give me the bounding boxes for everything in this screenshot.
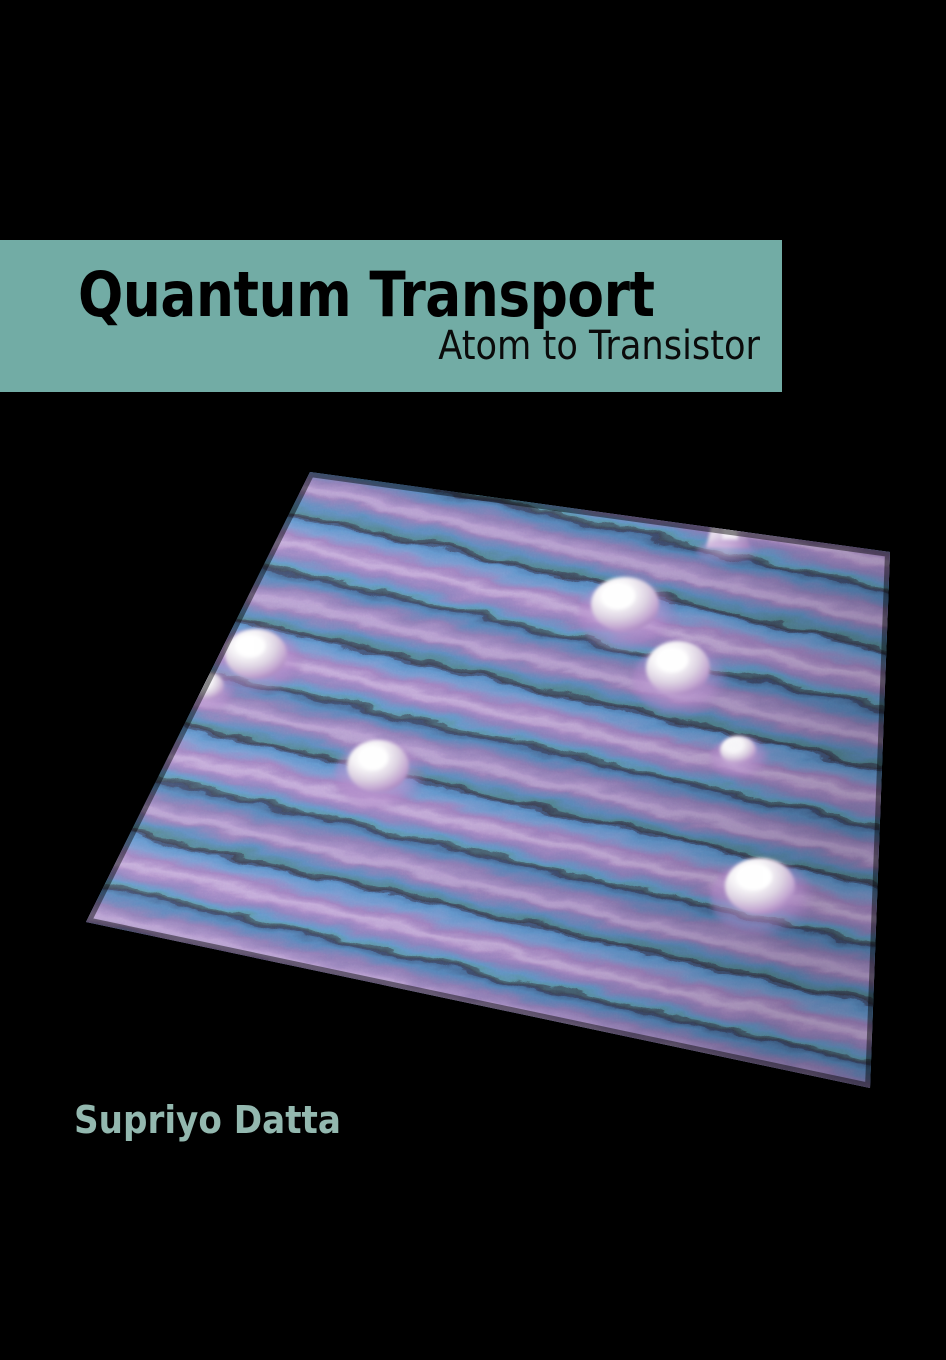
page-subtitle: Atom to Transistor [160, 326, 760, 366]
peak-right-small [710, 736, 770, 780]
stm-artwork-svg [60, 440, 910, 1110]
stm-surface-topograph [60, 440, 910, 1110]
book-cover: Quantum Transport Atom to Transistor Sup… [0, 0, 946, 1360]
author-name: Supriyo Datta [74, 1098, 341, 1142]
title-band: Quantum Transport Atom to Transistor [0, 240, 782, 392]
page-title: Quantum Transport [78, 266, 665, 325]
